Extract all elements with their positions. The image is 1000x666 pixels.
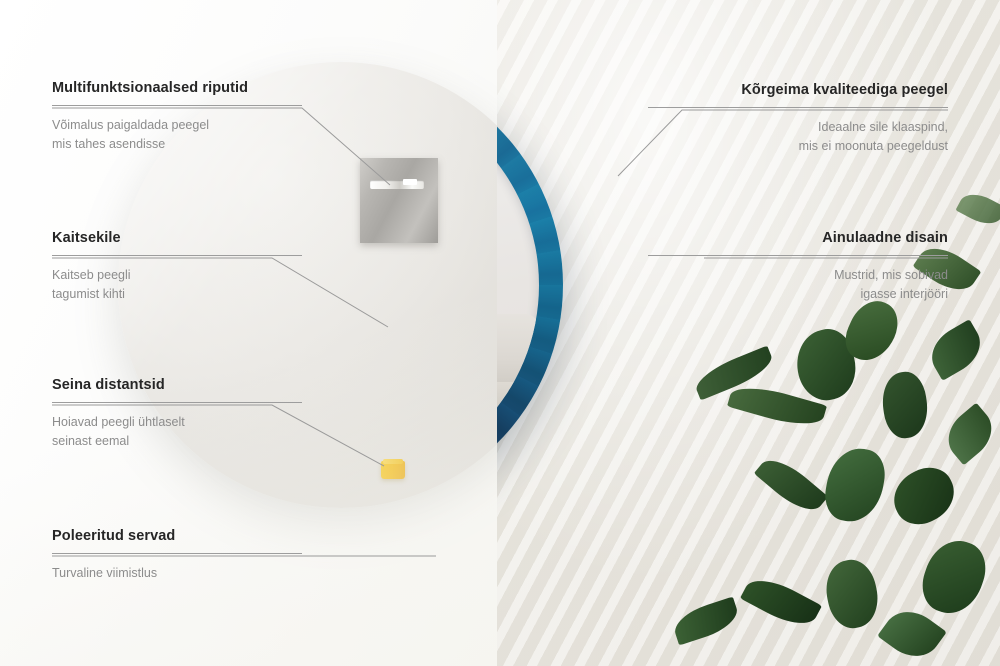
callout-title: Poleeritud servad xyxy=(52,528,302,544)
hanger-plate xyxy=(360,158,438,243)
callout-description: Võimalus paigaldada peegel mis tahes ase… xyxy=(52,116,302,153)
reflected-sofa-back xyxy=(497,314,539,388)
callout-protective-film: Kaitsekile Kaitseb peegli tagumist kihti xyxy=(52,230,302,303)
reflected-rug xyxy=(497,454,539,484)
callout-rule xyxy=(648,255,948,256)
callout-title: Seina distantsid xyxy=(52,377,302,393)
callout-description: Turvaline viimistlus xyxy=(52,564,302,583)
callout-multifunctional-hangers: Multifunktsionaalsed riputid Võimalus pa… xyxy=(52,80,302,153)
callout-unique-design: Ainulaadne disain Mustrid, mis sobivad i… xyxy=(648,230,948,303)
infographic-stage: Multifunktsionaalsed riputid Võimalus pa… xyxy=(0,0,1000,666)
callout-title: Kaitsekile xyxy=(52,230,302,246)
callout-title: Kõrgeima kvaliteediga peegel xyxy=(648,82,948,98)
callout-rule xyxy=(648,107,948,108)
callout-wall-spacers: Seina distantsid Hoiavad peegli ühtlasel… xyxy=(52,377,302,450)
callout-description: Ideaalne sile klaaspind, mis ei moonuta … xyxy=(648,118,948,155)
callout-description: Hoiavad peegli ühtlaselt seinast eemal xyxy=(52,413,302,450)
callout-description: Mustrid, mis sobivad igasse interjööri xyxy=(648,266,948,303)
hanger-slot xyxy=(370,180,424,189)
wall-spacer xyxy=(381,461,405,479)
callout-description: Kaitseb peegli tagumist kihti xyxy=(52,266,302,303)
callout-rule xyxy=(52,553,302,554)
callout-rule xyxy=(52,105,302,106)
callout-rule xyxy=(52,255,302,256)
callout-highest-quality-mirror: Kõrgeima kvaliteediga peegel Ideaalne si… xyxy=(648,82,948,155)
callout-title: Ainulaadne disain xyxy=(648,230,948,246)
callout-title: Multifunktsionaalsed riputid xyxy=(52,80,302,96)
callout-polished-edges: Poleeritud servad Turvaline viimistlus xyxy=(52,528,302,583)
reflected-sofa-seat xyxy=(497,382,539,428)
callout-rule xyxy=(52,402,302,403)
